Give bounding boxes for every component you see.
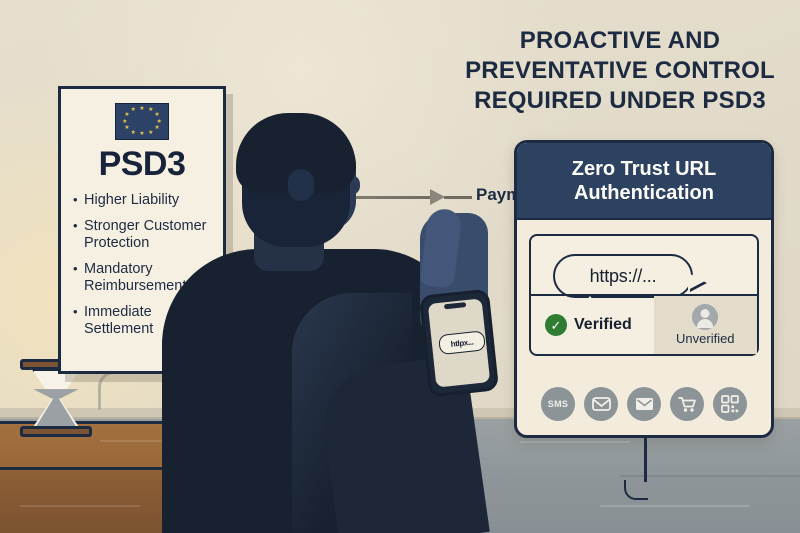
shopping-cart-icon [670, 387, 704, 421]
panel-title-line2: Authentication [574, 182, 714, 204]
unverified-label: Unverified [676, 331, 735, 346]
envelope-filled-icon [627, 387, 661, 421]
phone-screen: htlpx... [428, 298, 490, 387]
user-avatar-icon [692, 304, 718, 330]
person-with-phone-illustration [196, 113, 456, 533]
sms-label: SMS [548, 399, 568, 409]
unverified-status: Unverified [654, 296, 757, 354]
heading-line2: PREVENTATIVE CONTROL [465, 57, 775, 84]
panel-connector-line [644, 438, 647, 482]
zero-trust-panel: Zero Trust URL Authentication https://..… [514, 140, 774, 438]
url-verification-box: https://... ✓ Verified Unverified [529, 234, 759, 356]
phone-notch [444, 302, 466, 309]
phone-url-text: htlpx... [450, 337, 473, 348]
person-ear [288, 169, 314, 201]
sms-icon: SMS [541, 387, 575, 421]
panel-header: Zero Trust URL Authentication [517, 143, 771, 220]
panel-title-line1: Zero Trust URL [572, 158, 716, 180]
eu-flag-icon: ★ ★ ★ ★ ★ ★ ★ ★ ★ ★ ★ ★ [115, 103, 169, 140]
envelope-outline-icon [584, 387, 618, 421]
url-speech-bubble: https://... [553, 254, 693, 298]
check-circle-icon: ✓ [545, 314, 567, 336]
page-title: PROACTIVE AND PREVENTATIVE CONTROL REQUI… [452, 26, 788, 116]
verified-label: Verified [574, 316, 632, 334]
qr-code-icon [713, 387, 747, 421]
phone-url-pill: htlpx... [438, 330, 486, 355]
smartphone: htlpx... [419, 289, 499, 398]
url-text: https://... [590, 266, 657, 287]
illustration-scene: ★ ★ ★ ★ ★ ★ ★ ★ ★ ★ ★ ★ PSD3 Higher Liab… [0, 0, 800, 533]
heading-line3: REQUIRED UNDER PSD3 [474, 87, 766, 114]
heading-line1: PROACTIVE AND [520, 27, 720, 54]
verified-status: ✓ Verified [531, 296, 654, 354]
panel-title: Zero Trust URL Authentication [572, 157, 716, 205]
channel-icon-row: SMS [517, 387, 771, 421]
verification-status-row: ✓ Verified Unverified [531, 294, 757, 354]
